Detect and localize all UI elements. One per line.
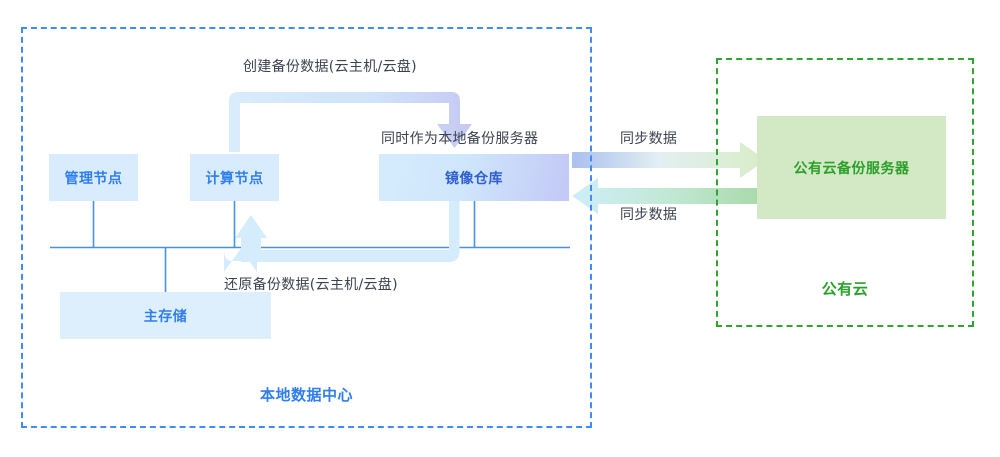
caption-sync-data-outbound: 同步数据 bbox=[620, 128, 677, 148]
public-cloud-label: 公有云 bbox=[718, 278, 972, 299]
node-image-registry[interactable]: 镜像仓库 bbox=[379, 154, 569, 201]
node-compute[interactable]: 计算节点 bbox=[190, 154, 279, 201]
node-management[interactable]: 管理节点 bbox=[49, 154, 138, 201]
caption-restore-backup: 还原备份数据(云主机/云盘) bbox=[224, 274, 398, 294]
caption-sync-data-inbound: 同步数据 bbox=[620, 204, 677, 224]
caption-registry-also-local-backup-server: 同时作为本地备份服务器 bbox=[381, 128, 538, 148]
node-public-cloud-backup-server[interactable]: 公有云备份服务器 bbox=[757, 116, 946, 219]
local-datacenter-zone: 本地数据中心 bbox=[21, 27, 592, 428]
local-datacenter-label: 本地数据中心 bbox=[23, 384, 590, 405]
diagram-canvas: 本地数据中心 公有云 管理节点 计算节点 镜像仓库 主存储 公有云备份服务器 创… bbox=[0, 0, 1000, 457]
caption-create-backup: 创建备份数据(云主机/云盘) bbox=[243, 56, 417, 76]
node-primary-storage[interactable]: 主存储 bbox=[60, 292, 271, 339]
